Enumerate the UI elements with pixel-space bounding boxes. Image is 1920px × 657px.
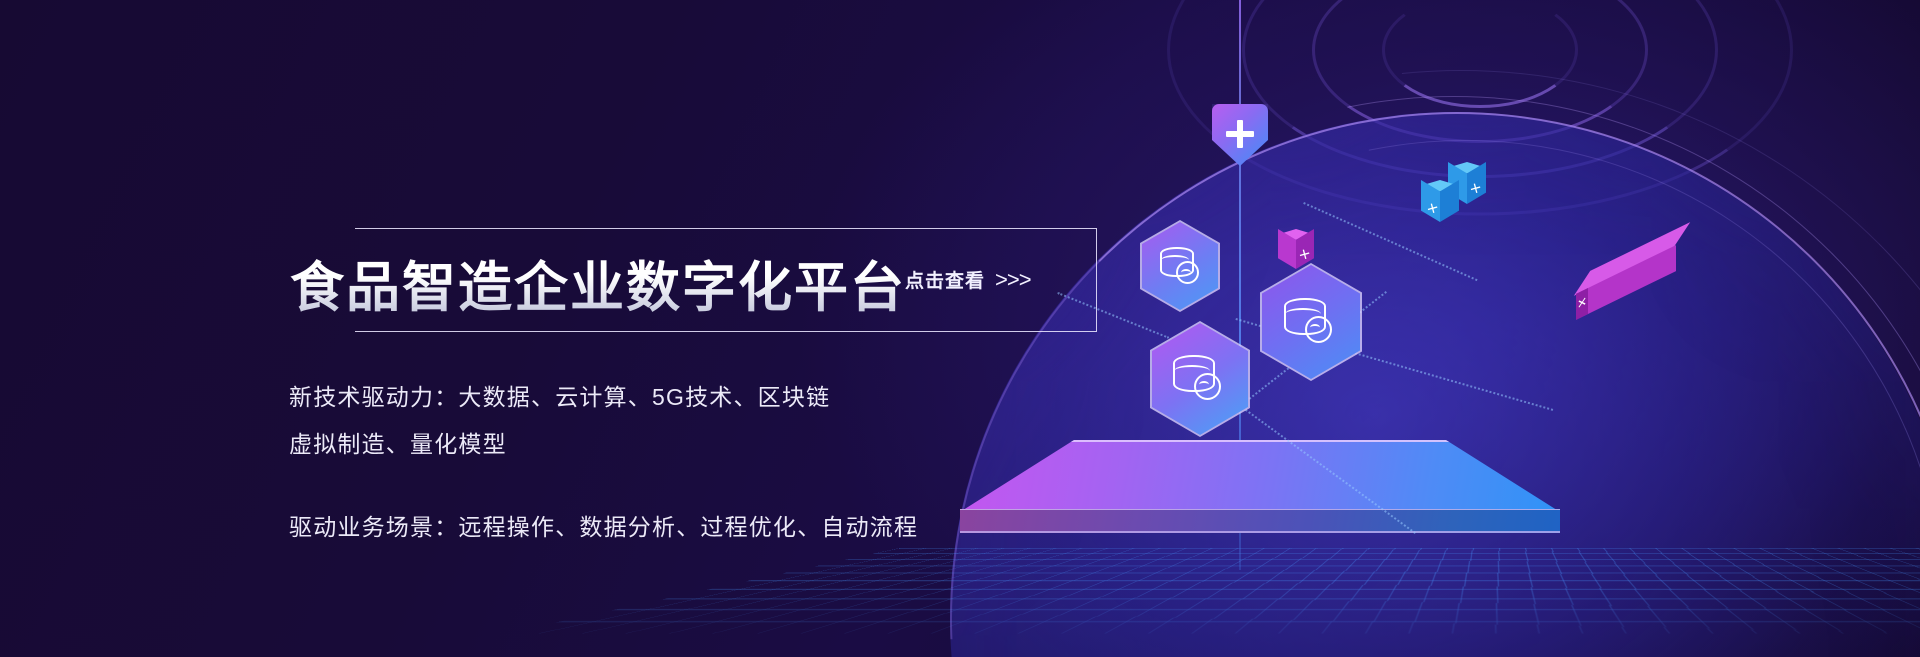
database-glyph-1 — [1160, 247, 1200, 285]
perspective-grid-floor — [505, 548, 1920, 633]
body-line-3: 驱动业务场景：远程操作、数据分析、过程优化、自动流程 — [289, 508, 918, 542]
click-to-view-link[interactable]: 点击查看>>> — [905, 266, 1031, 293]
slab-top-face — [960, 440, 1560, 512]
page-title: 食品智造企业数字化平台 — [290, 243, 906, 322]
cta-label: 点击查看 — [905, 271, 985, 292]
slab-front-edge — [960, 509, 1560, 533]
body-line-2: 虚拟制造、量化模型 — [289, 425, 507, 459]
platform-slab — [960, 440, 1560, 510]
tech-illustration: ✕ ✕ ✕ ✕ — [1040, 0, 1920, 657]
shield-plus-glyph — [1226, 120, 1254, 148]
hero-banner: ✕ ✕ ✕ ✕ 食品智造企业数字化平台 点击查看>>> 新技术驱动力：大数据、云… — [0, 0, 1920, 657]
magenta-cube-icon: ✕ — [1278, 229, 1314, 269]
database-glyph-2 — [1173, 355, 1223, 403]
body-line-1: 新技术驱动力：大数据、云计算、5G技术、区块链 — [289, 378, 830, 412]
database-glyph-3 — [1284, 298, 1334, 346]
chevron-right-icon: >>> — [995, 267, 1031, 292]
cyan-cube-icon-2: ✕ — [1421, 180, 1459, 222]
